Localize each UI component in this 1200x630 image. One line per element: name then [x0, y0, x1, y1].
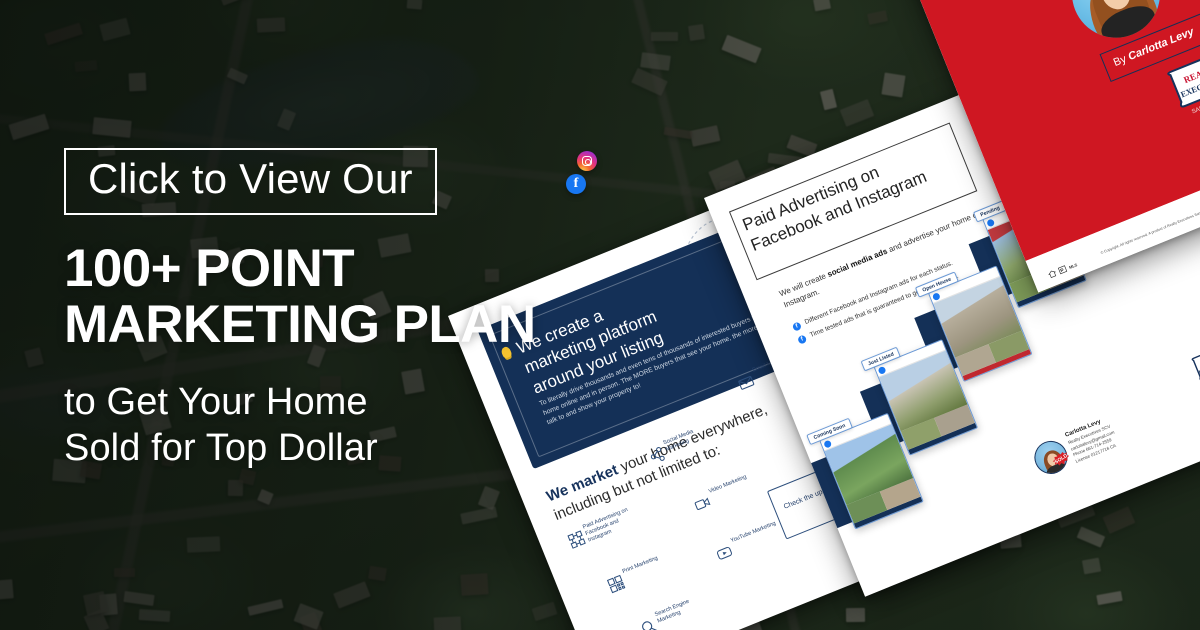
page-body-bold: social media ads — [826, 247, 889, 279]
subheadline-line1: to Get Your Home — [64, 379, 584, 425]
hero-headline: Click to View Our 100+ POINT MARKETING P… — [64, 148, 584, 472]
headline-line2: MARKETING PLAN — [64, 297, 584, 354]
channel-label: Video Marketing — [708, 468, 763, 495]
page-avatar-icon — [932, 292, 941, 301]
network-icon — [567, 530, 587, 550]
realty-executives-logo: REALTY EXECUTIVES SANTA CLARITA — [1187, 341, 1200, 390]
page-avatar-icon — [823, 440, 832, 449]
youtube-icon — [715, 543, 735, 563]
channel-label: YouTube Marketing — [730, 518, 785, 545]
mls-icon: MLS — [1068, 262, 1078, 270]
facebook-bullet-icon: f — [792, 321, 802, 331]
page-avatar-icon — [877, 366, 886, 375]
subheadline-line2: Sold for Top Dollar — [64, 425, 584, 471]
page-avatar-icon — [986, 218, 995, 227]
promo-banner[interactable]: We create a marketing platform around yo… — [0, 0, 1200, 630]
print-icon — [606, 574, 626, 594]
search-icon — [639, 617, 659, 630]
headline-line1: 100+ POINT — [64, 241, 584, 298]
channel-label: Search Engine Marketing — [654, 591, 711, 625]
cta-view-button[interactable]: Click to View Our — [64, 148, 437, 215]
agent-contact-card: SOLD Carlotta Levy Realty Executives SCV… — [1029, 387, 1192, 484]
video-icon — [693, 494, 713, 514]
facebook-bullet-icon: f — [797, 334, 807, 344]
channel-label: Print Marketing — [622, 548, 677, 575]
